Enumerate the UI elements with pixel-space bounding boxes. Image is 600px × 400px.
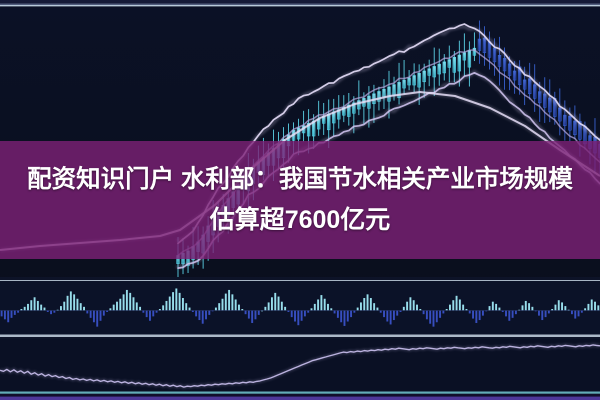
bottom-divider (0, 392, 600, 400)
headline-line-2: 估算超7600亿元 (210, 200, 391, 240)
headline-overlay-band: 配资知识门户 水利部：我国节水相关产业市场规模 估算超7600亿元 (0, 141, 600, 259)
macd-histogram-series (0, 281, 600, 335)
top-divider (0, 0, 600, 6)
stock-chart-banner: 配资知识门户 水利部：我国节水相关产业市场规模 估算超7600亿元 (0, 0, 600, 400)
headline-line-1: 配资知识门户 水利部：我国节水相关产业市场规模 (27, 160, 573, 200)
indicator-line-series (0, 339, 600, 392)
panel-divider-lower (0, 335, 600, 340)
